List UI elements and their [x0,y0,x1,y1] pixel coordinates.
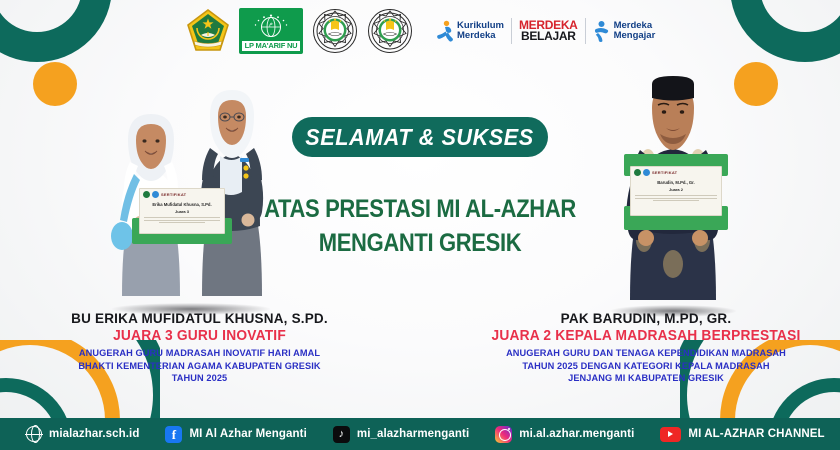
merdeka-mengajar-logo: Merdeka Mengajar [593,20,656,42]
description-line: TAHUN 2025 [29,373,370,386]
tiktok-icon: ♪ [333,426,350,443]
kurikulum-merdeka-line2: Merdeka [457,31,504,41]
globe-icon [26,426,42,442]
congratulations-banner: م LP MA'ARIF NU [0,0,840,450]
decor-arc-top-left [0,0,112,62]
certificate-rank: Juara 2 [631,187,721,192]
decor-dot-top-left [33,62,77,106]
kurikulum-merdeka-logo: Kurikulum Merdeka [436,20,504,42]
madrasah-ibtidaiyah-logo [367,8,413,54]
awardee-award: JUARA 2 KEPALA MADRASAH BERPRESTASI [475,327,817,346]
awardee-description: ANUGERAH GURU DAN TENAGA KEPENDIDIKAN MA… [473,348,819,386]
description-line: ANUGERAH GURU MADRASAH INOVATIF HARI AMA… [29,348,370,361]
awardee-photo-right: SERTIFIKAT Barudin, M.Pd., Gr. Juara 2 [600,66,746,312]
youtube-label: MI AL-AZHAR CHANNEL [688,428,824,440]
description-line: TAHUN 2025 DENGAN KATEGORI KEPALA MADRAS… [473,361,819,374]
svg-text:م: م [269,21,273,27]
logo-strip: م LP MA'ARIF NU [186,8,655,54]
facebook-icon: f [165,426,182,443]
awardee-caption-left: BU ERIKA MUFIDATUL KHUSNA, S.PD. JUARA 3… [22,310,377,386]
kurikulum-merdeka-branding: Kurikulum Merdeka MERDEKA BELAJAR Merdek… [436,18,655,44]
divider [511,18,512,44]
certificate-name: Erika Mufidatul Khusna, S.Pd. [140,202,224,207]
runner-icon [436,20,453,42]
awardee-photo-left: SERTIFIKAT Erika Mufidatul Khusna, S.Pd.… [98,72,283,310]
selamat-sukses-pill: SELAMAT & SUKSES [292,117,548,157]
instagram-icon [495,426,512,443]
kemenag-logo [186,8,230,54]
divider [585,18,586,44]
facebook-label: MI Al Azhar Menganti [189,428,306,440]
website-label: mialazhar.sch.id [49,428,139,440]
merdeka-belajar-line2: BELAJAR [519,31,578,42]
selamat-sukses-text: SELAMAT & SUKSES [306,124,534,151]
tiktok-label: mi_alazharmenganti [357,428,469,440]
cert-seal-icon [152,191,159,198]
awardee-name: BU ERIKA MUFIDATUL KHUSNA, S.PD. [22,310,377,327]
certificate-right: SERTIFIKAT Barudin, M.Pd., Gr. Juara 2 [624,154,728,230]
certificate-title: SERTIFIKAT [652,170,677,175]
footer-item-tiktok[interactable]: ♪ mi_alazharmenganti [333,426,469,443]
certificate-left: SERTIFIKAT Erika Mufidatul Khusna, S.Pd.… [132,188,232,246]
maarif-globe-icon: م [242,11,300,41]
merdeka-belajar-logo: MERDEKA BELAJAR [519,20,578,42]
awardee-caption-right: PAK BARUDIN, M.PD, GR. JUARA 2 KEPALA MA… [466,310,826,386]
certificate-title: SERTIFIKAT [161,192,186,197]
lp-maarif-nu-logo: م LP MA'ARIF NU [239,8,303,54]
yayasan-pondok-pesantren-logo [312,8,358,54]
youtube-icon [660,427,681,442]
description-line: JENJANG MI KABUPATEN GRESIK [473,373,819,386]
certificate-rank: Juara 3 [140,209,224,214]
social-footer-bar: mialazhar.sch.id f MI Al Azhar Menganti … [0,418,840,450]
certificate-name: Barudin, M.Pd., Gr. [631,180,721,185]
awardee-award: JUARA 3 GURU INOVATIF [31,327,368,346]
footer-item-website[interactable]: mialazhar.sch.id [26,426,139,442]
awardee-description: ANUGERAH GURU MADRASAH INOVATIF HARI AMA… [29,348,370,386]
decor-arc-top-right [730,0,840,62]
awardee-name: PAK BARUDIN, M.PD, GR. [466,310,826,327]
instagram-label: mi.al.azhar.menganti [519,428,634,440]
maarif-label: LP MA'ARIF NU [242,41,300,51]
footer-item-youtube[interactable]: MI AL-AZHAR CHANNEL [660,427,824,442]
merdeka-mengajar-line2: Mengajar [614,31,656,41]
page-title: ATAS PRESTASI MI AL-AZHAR MENGANTI GRESI… [240,192,600,260]
footer-item-instagram[interactable]: mi.al.azhar.menganti [495,426,634,443]
cert-seal-icon [143,191,150,198]
description-line: ANUGERAH GURU DAN TENAGA KEPENDIDIKAN MA… [473,348,819,361]
footer-item-facebook[interactable]: f MI Al Azhar Menganti [165,426,306,443]
headline-line-2: MENGANTI GRESIK [262,226,579,260]
cert-seal-icon [643,169,650,176]
person-raised-arm-icon [593,20,610,42]
cert-seal-icon [634,169,641,176]
headline-line-1: ATAS PRESTASI MI AL-AZHAR [262,192,579,226]
description-line: BHAKTI KEMENTERIAN AGAMA KABUPATEN GRESI… [29,361,370,374]
